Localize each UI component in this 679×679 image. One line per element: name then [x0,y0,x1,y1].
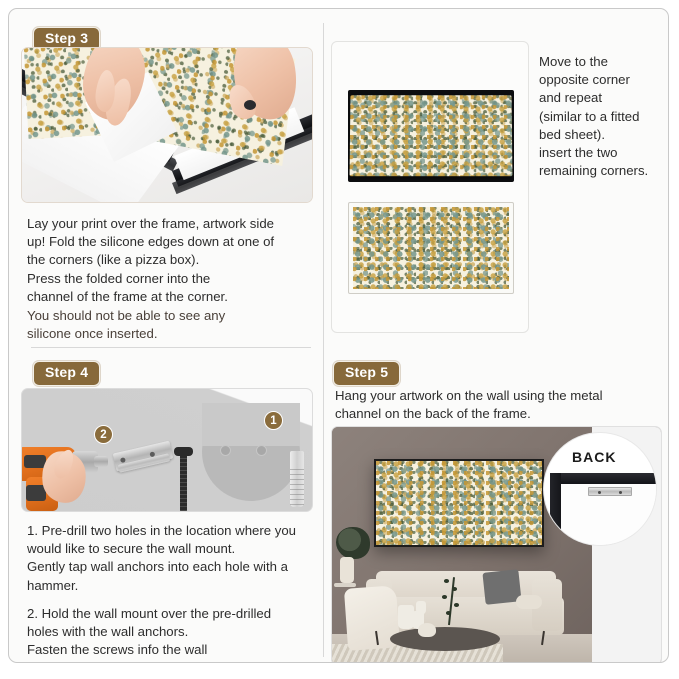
step-3-artwork-card [331,41,529,333]
zoom-circle-upper [202,403,300,446]
artwork-floral-surface [376,461,542,545]
artwork-sheet-bottom [353,207,509,289]
zoom-circle-holes [202,403,300,501]
back-callout-label: BACK [572,449,616,465]
back-callout-circle: BACK [544,433,656,545]
step-4-text-item-2: 2. Hold the wall mount over the pre-dril… [27,605,317,663]
coffee-table [390,627,500,651]
artwork-sheet-top [350,95,513,176]
step-5-badge: Step 5 [333,361,400,386]
artwork-finished-print [348,202,514,294]
frame-gap-shadow [244,100,256,110]
plant-leaf-5 [446,611,451,615]
side-table-vase [340,557,354,583]
side-table [334,583,356,587]
plant-leaf-1 [444,579,449,583]
drill-bit-holder [94,456,108,467]
screw-head [174,447,193,456]
step-5-text-block: Hang your artwork on the wall using the … [335,387,665,423]
step-5-photo-living-room: BACK [331,426,662,663]
wall-anchor-plug [290,451,304,507]
channel-hole-2 [619,491,622,494]
step-4-text-block: 1. Pre-drill two holes in the location w… [27,522,317,663]
artwork-stretched-over-frame [348,90,514,182]
sofa-bolster-pillow [516,595,542,609]
step-4-badge: Step 4 [33,361,100,386]
marker-1: 1 [264,411,283,430]
step-3-text-secondary: You should not be able to see any silico… [27,307,313,343]
step-3-side-text: Move to the opposite corner and repeat (… [539,53,669,181]
step-5-text: Hang your artwork on the wall using the … [335,387,665,423]
channel-hole-1 [598,491,601,494]
divider-horizontal [31,347,311,348]
screw-shaft [180,455,187,512]
instruction-sheet: Step 3 [8,8,669,663]
potted-plant-left [336,527,370,559]
drilled-hole-2 [256,445,267,456]
step-3-text-primary: Lay your print over the frame, artwork s… [27,215,313,306]
decor-vase [418,623,436,637]
plant-leaf-2 [452,587,457,591]
framed-artwork-on-wall [374,459,544,547]
step-3-side-text-body: Move to the opposite corner and repeat (… [539,53,669,181]
step-3-text-block: Lay your print over the frame, artwork s… [27,215,313,344]
drilled-hole-1 [220,445,231,456]
step-3-photo-fold-corner [21,47,313,203]
plant-leaf-4 [454,603,459,607]
wall-anchor-ribs [290,465,304,507]
step-4-text-item-1: 1. Pre-drill two holes in the location w… [27,522,317,595]
metal-hanging-channel [588,487,632,496]
plant-leaf-3 [442,595,447,599]
step-4-photo-drill-and-mount: 1 2 [21,388,313,512]
divider-vertical [323,23,324,657]
frame-back-left-edge [550,473,561,545]
candle-medium [416,601,426,615]
frame-back-top-edge [550,473,656,484]
marker-2: 2 [94,425,113,444]
